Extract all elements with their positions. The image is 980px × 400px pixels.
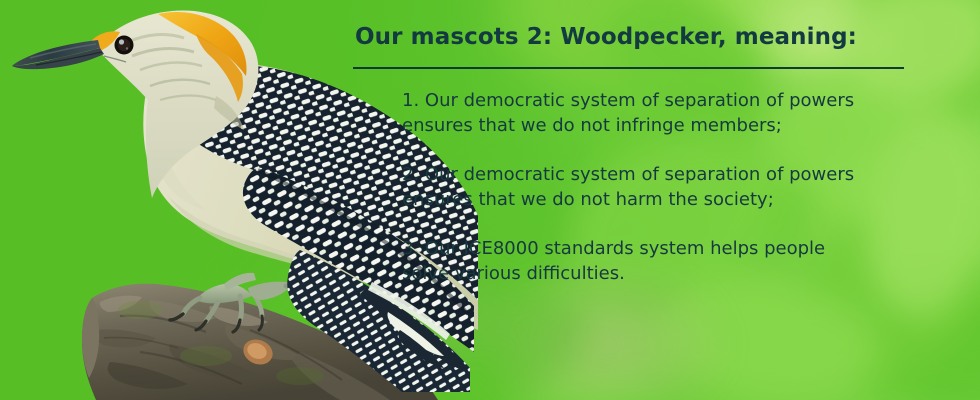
- list-item: 2. Our democratic system of separation o…: [402, 162, 932, 212]
- list-item: 1. Our democratic system of separation o…: [402, 88, 932, 138]
- list-item: 3. Our ICE8000 standards system helps pe…: [402, 236, 932, 286]
- page-title: Our mascots 2: Woodpecker, meaning:: [355, 24, 857, 50]
- meaning-list: 1. Our democratic system of separation o…: [402, 88, 932, 286]
- text-panel: Our mascots 2: Woodpecker, meaning: 1. O…: [353, 0, 953, 400]
- mascot-banner: Our mascots 2: Woodpecker, meaning: 1. O…: [0, 0, 980, 400]
- title-divider: [353, 67, 904, 69]
